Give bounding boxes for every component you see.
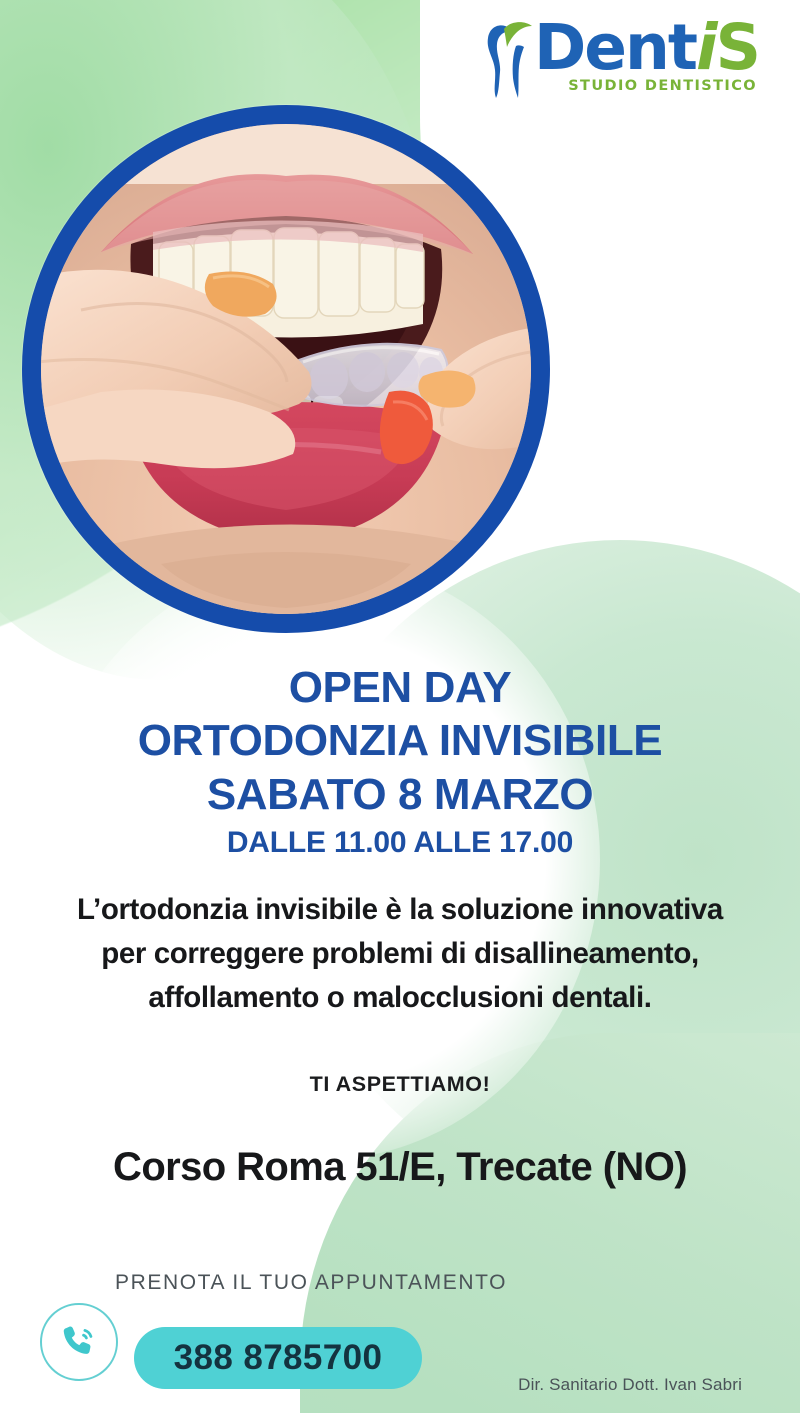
logo-text-i: i [696, 11, 716, 84]
phone-call-glyph [58, 1321, 100, 1363]
logo-tagline: STUDIO DENTISTICO [568, 78, 757, 94]
logo-wordmark: DentiS [534, 18, 759, 78]
waiting-message: TI ASPETTIAMO! [0, 1072, 800, 1097]
brand-logo[interactable]: DentiS STUDIO DENTISTICO [482, 18, 782, 118]
headline-time: DALLE 11.00 ALLE 17.00 [0, 822, 800, 864]
logo-text-s: S [716, 11, 759, 84]
headline-line-2: ORTODONZIA INVISIBILE [0, 714, 800, 768]
body-copy-block: L’ortodonzia invisibile è la soluzione i… [0, 888, 800, 1020]
body-copy-line-3: affollamento o malocclusioni dentali. [0, 976, 800, 1020]
hero-photo-image [41, 124, 531, 614]
phone-number-text: 388 8785700 [174, 1338, 383, 1378]
body-copy-line-1: L’ortodonzia invisibile è la soluzione i… [0, 888, 800, 932]
hero-photo-circle [22, 105, 550, 633]
tooth-logo-icon [482, 20, 536, 100]
director-credit: Dir. Sanitario Dott. Ivan Sabri [518, 1375, 742, 1395]
flyer-poster: DentiS STUDIO DENTISTICO [0, 0, 800, 1413]
headline-line-3: SABATO 8 MARZO [0, 768, 800, 822]
phone-call-icon[interactable] [40, 1303, 118, 1381]
headline-line-1: OPEN DAY [0, 662, 800, 714]
background-shape-green-right [290, 540, 800, 1200]
booking-label: PRENOTA IL TUO APPUNTAMENTO [115, 1271, 507, 1295]
headline-block: OPEN DAY ORTODONZIA INVISIBILE SABATO 8 … [0, 662, 800, 864]
address-line: Corso Roma 51/E, Trecate (NO) [0, 1145, 800, 1190]
logo-text-dent: Dent [534, 11, 696, 84]
phone-number-button[interactable]: 388 8785700 [134, 1327, 422, 1389]
logo-wordmark-wrap: DentiS STUDIO DENTISTICO [534, 18, 759, 78]
body-copy-line-2: per correggere problemi di disallineamen… [0, 932, 800, 976]
